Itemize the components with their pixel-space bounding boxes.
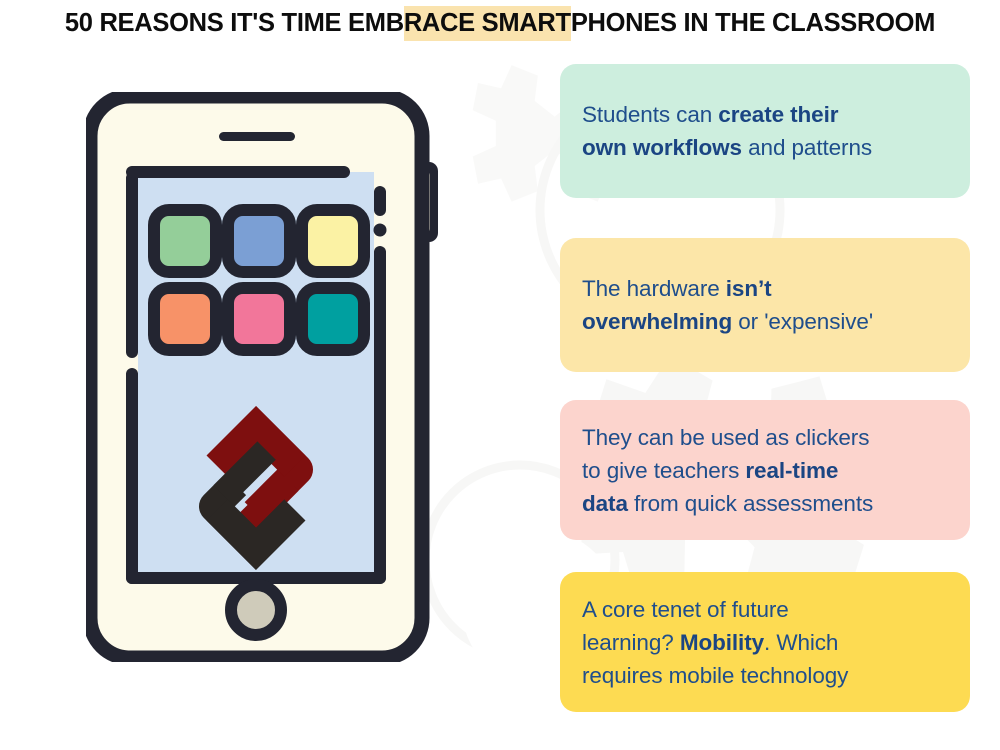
app-icon-pink[interactable] <box>228 288 290 350</box>
reason-card-emphasis: data <box>582 491 628 516</box>
reason-card-hardware[interactable]: The hardware isn’toverwhelming or 'expen… <box>560 238 970 372</box>
reason-card-emphasis: isn’t <box>726 276 772 301</box>
reason-card-text: A core tenet of futurelearning? Mobility… <box>582 593 848 692</box>
reason-card-students-workflows[interactable]: Students can create theirown workflows a… <box>560 64 970 198</box>
page-title: 50 REASONS IT'S TIME EMBRACE SMARTPHONES… <box>65 11 935 37</box>
reason-card-run: from quick assessments <box>628 491 873 516</box>
reason-card-line: They can be used as clickers <box>582 421 873 454</box>
reason-card-run: A core tenet of future <box>582 597 789 622</box>
smartphone-illustration <box>86 92 446 662</box>
page-title-highlight: RACE SMART <box>404 6 571 41</box>
reason-card-line: The hardware isn’t <box>582 272 873 305</box>
app-icon-teal[interactable] <box>302 288 364 350</box>
reason-card-run: The hardware <box>582 276 726 301</box>
app-icon-orange[interactable] <box>154 288 216 350</box>
reason-card-line: requires mobile technology <box>582 659 848 692</box>
infographic-canvas: 50 REASONS IT'S TIME EMBRACE SMARTPHONES… <box>0 0 1000 750</box>
reason-card-line: overwhelming or 'expensive' <box>582 305 873 338</box>
reason-card-run: Students can <box>582 102 718 127</box>
reason-card-text: They can be used as clickersto give teac… <box>582 421 873 520</box>
reason-card-run: requires mobile technology <box>582 663 848 688</box>
reason-card-line: to give teachers real-time <box>582 454 873 487</box>
reason-card-line: Students can create their <box>582 98 872 131</box>
page-title-part-1: 50 REASONS IT'S TIME EMB <box>65 9 404 37</box>
reason-card-clickers[interactable]: They can be used as clickersto give teac… <box>560 400 970 540</box>
reason-card-run: They can be used as clickers <box>582 425 869 450</box>
reason-card-emphasis: Mobility <box>680 630 764 655</box>
reason-cards-list: Students can create theirown workflows a… <box>560 0 980 750</box>
reason-card-emphasis: overwhelming <box>582 309 732 334</box>
reason-card-mobility[interactable]: A core tenet of futurelearning? Mobility… <box>560 572 970 712</box>
reason-card-emphasis: own workflows <box>582 135 742 160</box>
reason-card-run: . Which <box>764 630 838 655</box>
earpiece-speaker <box>219 132 295 141</box>
reason-card-text: Students can create theirown workflows a… <box>582 98 872 164</box>
reason-card-line: A core tenet of future <box>582 593 848 626</box>
reason-card-emphasis: create their <box>718 102 838 127</box>
reason-card-line: own workflows and patterns <box>582 131 872 164</box>
home-button[interactable] <box>231 585 281 635</box>
reason-card-line: data from quick assessments <box>582 487 873 520</box>
reason-card-run: or 'expensive' <box>732 309 873 334</box>
page-title-bar: 50 REASONS IT'S TIME EMBRACE SMARTPHONES… <box>0 0 1000 48</box>
reason-card-text: The hardware isn’toverwhelming or 'expen… <box>582 272 873 338</box>
app-icon-green[interactable] <box>154 210 216 272</box>
app-icon-yellow[interactable] <box>302 210 364 272</box>
screen-outline-dot <box>374 224 387 237</box>
reason-card-run: to give teachers <box>582 458 745 483</box>
reason-card-emphasis: real-time <box>745 458 838 483</box>
reason-card-run: and patterns <box>742 135 872 160</box>
app-icon-blue[interactable] <box>228 210 290 272</box>
page-title-part-2: PHONES IN THE CLASSROOM <box>571 9 935 37</box>
reason-card-line: learning? Mobility. Which <box>582 626 848 659</box>
reason-card-run: learning? <box>582 630 680 655</box>
